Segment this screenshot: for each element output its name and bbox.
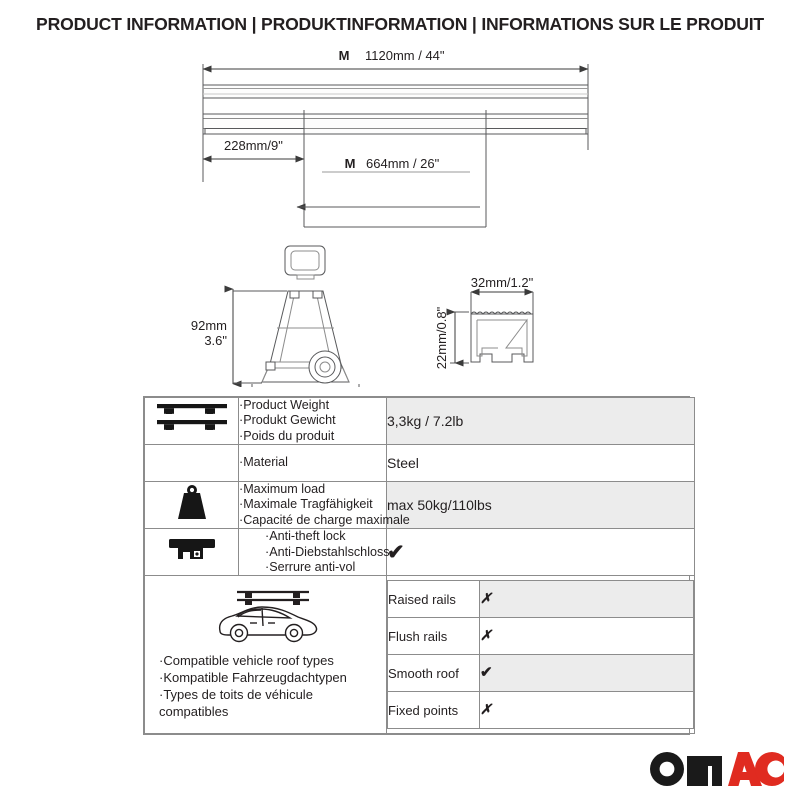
lock-icon	[145, 529, 239, 576]
roof-option-mark: ✗	[480, 618, 694, 655]
table-row: ·Anti-theft lock ·Anti-Diebstahlschloss …	[145, 529, 695, 576]
roof-option-name: Flush rails	[388, 618, 480, 655]
material-icon-empty	[145, 445, 239, 482]
roof-option-mark: ✗	[480, 581, 694, 618]
table-row: ·Maximum load ·Maximale Tragfähigkeit ·C…	[145, 482, 695, 529]
roof-options-cell: Raised rails ✗ Flush rails ✗	[387, 576, 695, 734]
label-line: ·Compatible vehicle roof types	[159, 653, 374, 670]
dim-foot-spacing: 664mm / 26"	[366, 156, 440, 171]
label-line: ·Capacité de charge maximale	[239, 513, 386, 528]
label-line: ·Maximale Tragfähigkeit	[239, 497, 386, 512]
roof-option-mark: ✗	[480, 692, 694, 729]
row-label-material: ·Material	[239, 445, 387, 482]
dim-bar-length: 1120mm / 44"	[365, 48, 445, 63]
check-mark-icon: ✔	[387, 541, 405, 564]
cross-mark-icon: ✗	[480, 701, 492, 717]
weight-icon	[145, 482, 239, 529]
roof-option-row: Flush rails ✗	[388, 618, 694, 655]
technical-drawing: M 1120mm / 44" 228mm/9" M 664mm / 26" 92…	[0, 42, 800, 387]
label-line: ·Maximum load	[239, 482, 386, 497]
dim-profile-width: 32mm/1.2"	[471, 275, 534, 290]
row-value-anti-theft-lock: ✔	[387, 529, 695, 576]
table-row-roof-types: ·Compatible vehicle roof types ·Kompatib…	[145, 576, 695, 734]
row-value-maximum-load: max 50kg/110lbs	[387, 482, 695, 529]
dim-foot-height-line1: 92mm	[191, 318, 227, 333]
roof-option-row: Raised rails ✗	[388, 581, 694, 618]
dim-bar-length-prefix: M	[339, 48, 350, 63]
label-line: ·Anti-Diebstahlschloss	[265, 545, 386, 560]
roof-option-name: Smooth roof	[388, 655, 480, 692]
page-title: PRODUCT INFORMATION | PRODUKTINFORMATION…	[0, 14, 800, 35]
label-line: ·Kompatible Fahrzeugdachtypen	[159, 670, 374, 687]
roof-option-row: Smooth roof ✔	[388, 655, 694, 692]
roof-option-row: Fixed points ✗	[388, 692, 694, 729]
table-row: ·Material Steel	[145, 445, 695, 482]
label-line: ·Anti-theft lock	[265, 529, 386, 544]
label-line: ·Product Weight	[239, 398, 386, 413]
omac-logo	[646, 748, 786, 788]
row-label-anti-theft-lock: ·Anti-theft lock ·Anti-Diebstahlschloss …	[239, 529, 387, 576]
row-label-maximum-load: ·Maximum load ·Maximale Tragfähigkeit ·C…	[239, 482, 387, 529]
dim-end-offset: 228mm/9"	[224, 138, 283, 153]
cross-mark-icon: ✗	[480, 590, 492, 606]
dim-foot-spacing-prefix: M	[345, 156, 356, 171]
omac-logo-mark	[646, 748, 786, 788]
row-value-product-weight: 3,3kg / 7.2lb	[387, 398, 695, 445]
roof-types-label-cell: ·Compatible vehicle roof types ·Kompatib…	[145, 576, 387, 734]
row-value-material: Steel	[387, 445, 695, 482]
specification-table: ·Product Weight ·Produkt Gewicht ·Poids …	[143, 396, 690, 735]
row-label-product-weight: ·Product Weight ·Produkt Gewicht ·Poids …	[239, 398, 387, 445]
cross-mark-icon: ✗	[480, 627, 492, 643]
check-mark-icon: ✔	[480, 664, 493, 681]
roof-option-mark: ✔	[480, 655, 694, 692]
crossbars-icon	[145, 398, 239, 445]
label-line: ·Types de toits de véhicule	[159, 687, 374, 704]
table-row: ·Product Weight ·Produkt Gewicht ·Poids …	[145, 398, 695, 445]
roof-option-name: Raised rails	[388, 581, 480, 618]
roof-types-labels: ·Compatible vehicle roof types ·Kompatib…	[153, 653, 378, 721]
roof-option-name: Fixed points	[388, 692, 480, 729]
dim-profile-height: 22mm/0.8"	[434, 306, 449, 369]
label-line: ·Poids du produit	[239, 429, 386, 444]
label-line: ·Produkt Gewicht	[239, 413, 386, 428]
car-with-roofrack-icon	[153, 586, 378, 653]
dim-foot-height-line2: 3.6"	[204, 333, 227, 348]
label-line: compatibles	[159, 704, 374, 721]
label-line: ·Serrure anti-vol	[265, 560, 386, 575]
